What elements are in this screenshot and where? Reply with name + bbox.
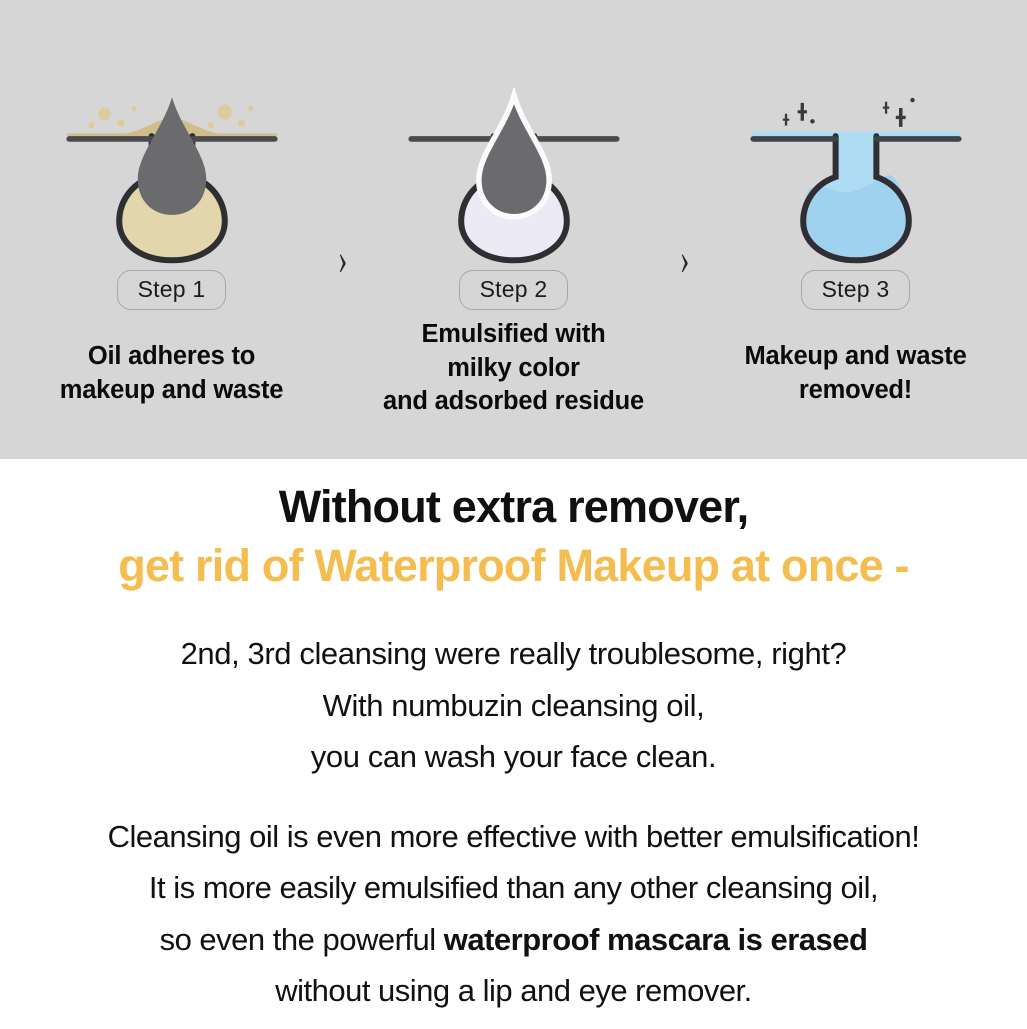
step-captions-row: Oil adheres to makeup and waste Emulsifi… [0, 318, 1027, 458]
caption-line: makeup and waste [60, 376, 284, 404]
body-paragraph-1: 2nd, 3rd cleansing were really troubleso… [0, 628, 1027, 782]
caption-line: milky color [447, 354, 579, 382]
step-1-column: Step 1 [22, 0, 322, 310]
step-2-caption: Emulsified with milky color and adsorbed… [364, 318, 664, 458]
body-line-emphasis: waterproof mascara is erased [444, 922, 868, 957]
headline: Without extra remover, get rid of Waterp… [0, 459, 1027, 592]
body-line-prefix: so even the powerful [160, 922, 444, 957]
step-1-caption: Oil adheres to makeup and waste [22, 318, 322, 458]
copy-panel: Without extra remover, get rid of Waterp… [0, 459, 1027, 1029]
body-line: It is more easily emulsified than any ot… [0, 862, 1027, 913]
caption-gap [664, 318, 706, 458]
step-2-column: Step 2 [364, 0, 664, 310]
body-line: Cleansing oil is even more effective wit… [0, 811, 1027, 862]
body-line: you can wash your face clean. [0, 731, 1027, 782]
headline-line-1: Without extra remover, [0, 481, 1027, 533]
chevron-right-icon: › [680, 237, 690, 283]
step-2-pill[interactable]: Step 2 [459, 270, 569, 310]
caption-line: and adsorbed residue [383, 387, 644, 415]
caption-line: removed! [799, 376, 912, 404]
step-3-caption: Makeup and waste removed! [706, 318, 1006, 458]
headline-line-2: get rid of Waterproof Makeup at once - [0, 540, 1027, 592]
pore-with-clean-water-icon [741, 88, 971, 264]
steps-row: Step 1 › Step 2 [0, 0, 1027, 310]
infographic-page: Step 1 › Step 2 [0, 0, 1027, 1029]
body-line: 2nd, 3rd cleansing were really troubleso… [0, 628, 1027, 679]
body-line: without using a lip and eye remover. [0, 965, 1027, 1016]
caption-line: Makeup and waste [744, 342, 966, 370]
step-3-pill[interactable]: Step 3 [801, 270, 911, 310]
step-3-column: Step 3 [706, 0, 1006, 310]
steps-panel: Step 1 › Step 2 [0, 0, 1027, 459]
step-separator-2: › [664, 0, 706, 310]
step-separator-1: › [322, 0, 364, 310]
caption-line: Oil adheres to [88, 342, 255, 370]
sparkle-icon [782, 98, 914, 127]
step-1-pill[interactable]: Step 1 [117, 270, 227, 310]
caption-gap [322, 318, 364, 458]
body-line: With numbuzin cleansing oil, [0, 680, 1027, 731]
chevron-right-icon: › [338, 237, 348, 283]
body-paragraph-2: Cleansing oil is even more effective wit… [0, 811, 1027, 1017]
pore-with-milky-emulsion-icon [399, 88, 629, 264]
body-line-with-emphasis: so even the powerful waterproof mascara … [0, 914, 1027, 965]
caption-line: Emulsified with [421, 320, 605, 348]
pore-with-oil-icon [57, 88, 287, 264]
